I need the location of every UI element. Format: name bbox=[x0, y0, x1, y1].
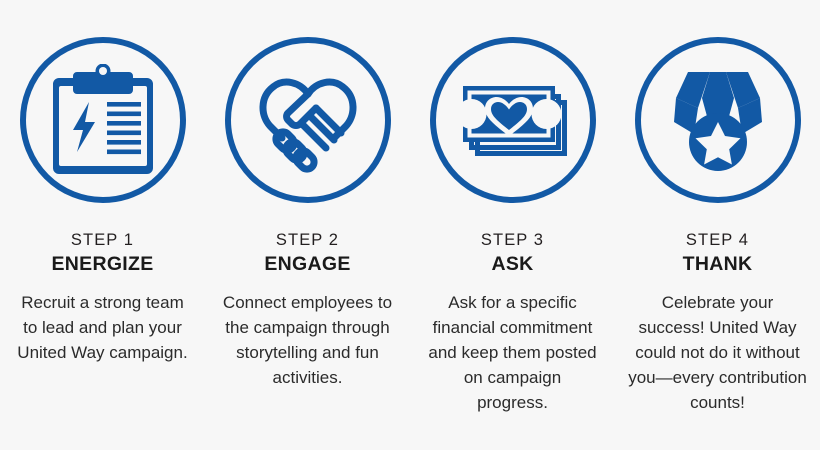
step-card-3: STEP 3 ASK Ask for a specific financial … bbox=[410, 0, 615, 415]
step-title: ENGAGE bbox=[264, 253, 350, 275]
money-heart-icon bbox=[453, 70, 573, 170]
step-label: STEP 3 bbox=[481, 231, 544, 249]
step-description: Recruit a strong team to lead and plan y… bbox=[17, 290, 189, 365]
step-label: STEP 1 bbox=[71, 231, 134, 249]
campaign-steps-infographic: STEP 1 ENERGIZE Recruit a strong team to… bbox=[0, 0, 820, 450]
step-label: STEP 2 bbox=[276, 231, 339, 249]
step-title: THANK bbox=[683, 253, 753, 275]
step-label: STEP 4 bbox=[686, 231, 749, 249]
step-description: Ask for a specific financial commitment … bbox=[427, 290, 599, 415]
clipboard-lightning-icon bbox=[49, 64, 157, 176]
step-title: ASK bbox=[491, 253, 533, 275]
step-description: Connect employees to the campaign throug… bbox=[218, 290, 398, 390]
step-card-1: STEP 1 ENERGIZE Recruit a strong team to… bbox=[0, 0, 205, 365]
step-3-icon-ring bbox=[430, 37, 596, 203]
handshake-heart-icon bbox=[248, 64, 368, 176]
step-card-4: STEP 4 THANK Celebrate your success! Uni… bbox=[615, 0, 820, 415]
step-title: ENERGIZE bbox=[51, 253, 153, 275]
step-1-icon-ring bbox=[20, 37, 186, 203]
step-2-icon-ring bbox=[225, 37, 391, 203]
step-description: Celebrate your success! United Way could… bbox=[628, 290, 808, 415]
step-4-icon-ring bbox=[635, 37, 801, 203]
medal-star-icon bbox=[666, 64, 770, 176]
step-card-2: STEP 2 ENGAGE Connect employees to the c… bbox=[205, 0, 410, 390]
